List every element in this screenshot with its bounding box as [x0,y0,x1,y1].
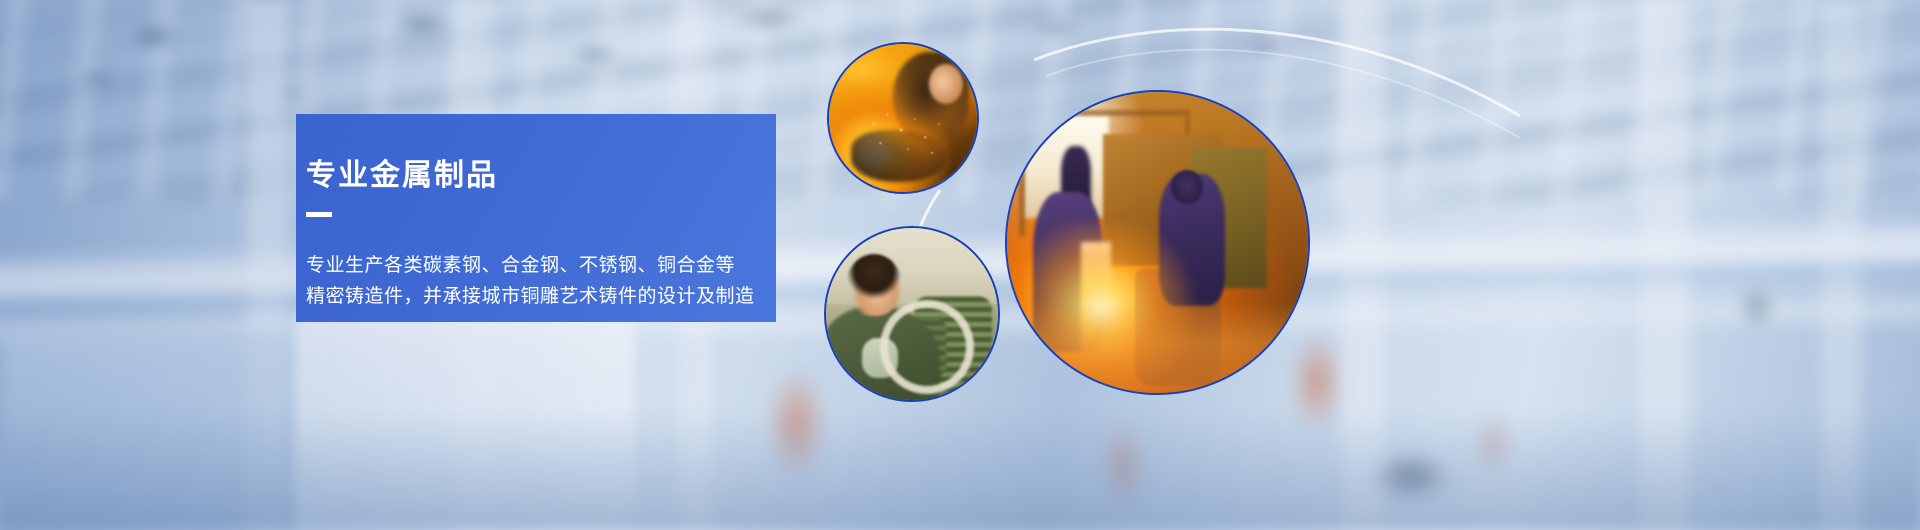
description-line-2: 精密铸造件，并承接城市铜雕艺术铸件的设计及制造 [306,281,755,312]
welding-sparks [865,106,951,166]
promo-banner: 专业金属制品 专业生产各类碳素钢、合金钢、不锈钢、铜合金等 精密铸造件，并承接城… [0,0,1920,530]
worker-inspection-photo [824,226,1000,402]
worker-coil-hose [880,300,974,394]
banner-title: 专业金属制品 [306,158,498,194]
foundry-worker-center-head [1171,170,1203,204]
description-line-1: 专业生产各类碳素钢、合金钢、不锈钢、铜合金等 [306,250,755,281]
foundry-floor [1007,301,1308,393]
foundry-pouring-photo [1005,90,1310,395]
worker-head [846,254,902,316]
welding-sparks-photo [827,42,979,194]
promo-text-box: 专业金属制品 专业生产各类碳素钢、合金钢、不锈钢、铜合金等 精密铸造件，并承接城… [296,114,776,322]
welder-face [929,64,963,104]
title-divider-rule [306,212,332,217]
banner-description: 专业生产各类碳素钢、合金钢、不锈钢、铜合金等 精密铸造件，并承接城市铜雕艺术铸件… [306,250,755,312]
